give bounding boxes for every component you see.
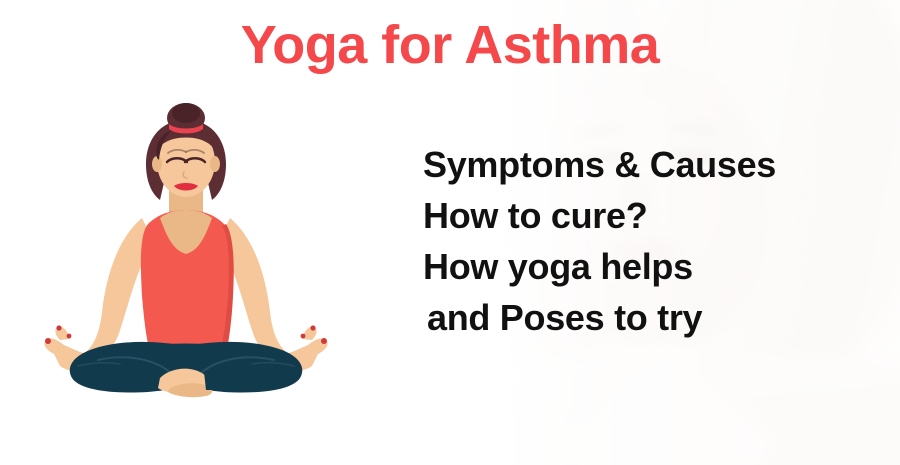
yoga-for-asthma-banner: Yoga for Asthma Symptoms & Causes How to… [0,0,900,465]
subhead-line-2: How to cure? [423,190,883,241]
subhead-line-4: and Poses to try [423,292,883,343]
page-title: Yoga for Asthma [0,16,900,75]
subhead-list: Symptoms & Causes How to cure? How yoga … [423,139,883,343]
meditating-woman-illustration [36,100,336,400]
subhead-line-3: How yoga helps [423,241,883,292]
head [146,103,226,200]
subhead-line-1: Symptoms & Causes [423,139,883,190]
